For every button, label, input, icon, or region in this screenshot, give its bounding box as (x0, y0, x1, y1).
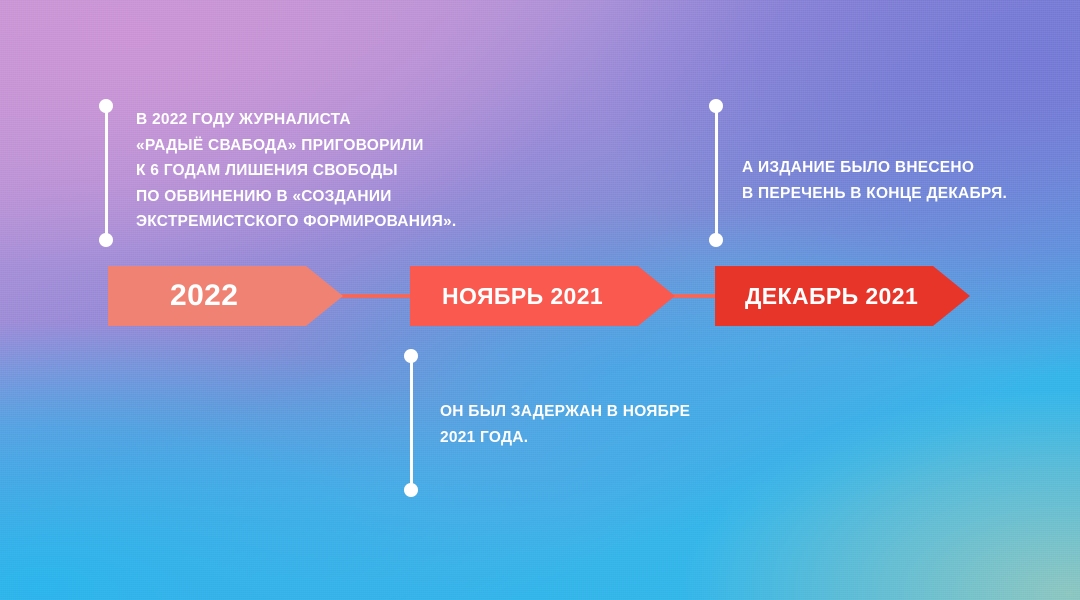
timeline-arrow-december-2021[interactable]: ДЕКАБРЬ 2021 (715, 266, 970, 326)
timeline-arrow-2022[interactable]: 2022 (108, 266, 343, 326)
callout-line: ПО ОБВИНЕНИЮ В «СОЗДАНИИ (136, 184, 456, 210)
callout-line: В 2022 ГОДУ ЖУРНАЛИСТА (136, 107, 456, 133)
timeline: 2022 НОЯБРЬ 2021 ДЕКАБРЬ 2021 (0, 0, 1080, 600)
callout-marker-right (709, 99, 723, 247)
timeline-arrow-december-2021-label: ДЕКАБРЬ 2021 (715, 283, 918, 310)
marker-stem (715, 106, 718, 240)
timeline-arrow-november-2021-label: НОЯБРЬ 2021 (410, 283, 603, 310)
callout-line: В ПЕРЕЧЕНЬ В КОНЦЕ ДЕКАБРЯ. (742, 181, 1007, 207)
callout-line: ЭКСТРЕМИСТСКОГО ФОРМИРОВАНИЯ». (136, 209, 456, 235)
callout-line: К 6 ГОДАМ ЛИШЕНИЯ СВОБОДЫ (136, 158, 456, 184)
timeline-arrow-november-2021[interactable]: НОЯБРЬ 2021 (410, 266, 675, 326)
marker-dot-bottom-icon (404, 483, 418, 497)
timeline-connector-1 (341, 294, 412, 298)
infographic-canvas: 2022 НОЯБРЬ 2021 ДЕКАБРЬ 2021 В 2022 ГОД… (0, 0, 1080, 600)
marker-dot-bottom-icon (709, 233, 723, 247)
timeline-arrow-2022-label: 2022 (108, 279, 238, 313)
callout-line: «РАДЫЁ СВАБОДА» ПРИГОВОРИЛИ (136, 133, 456, 159)
callout-marker-bottom (404, 349, 418, 497)
marker-stem (410, 356, 413, 490)
callout-line: 2021 ГОДА. (440, 425, 690, 451)
marker-stem (105, 106, 108, 240)
marker-dot-bottom-icon (99, 233, 113, 247)
callout-line: А ИЗДАНИЕ БЫЛО ВНЕСЕНО (742, 155, 1007, 181)
timeline-connector-2 (673, 294, 717, 298)
callout-text-bottom: ОН БЫЛ ЗАДЕРЖАН В НОЯБРЕ 2021 ГОДА. (440, 399, 690, 450)
callout-marker-left (99, 99, 113, 247)
callout-line: ОН БЫЛ ЗАДЕРЖАН В НОЯБРЕ (440, 399, 690, 425)
callout-text-right: А ИЗДАНИЕ БЫЛО ВНЕСЕНО В ПЕРЕЧЕНЬ В КОНЦ… (742, 155, 1007, 206)
callout-text-left: В 2022 ГОДУ ЖУРНАЛИСТА «РАДЫЁ СВАБОДА» П… (136, 107, 456, 235)
